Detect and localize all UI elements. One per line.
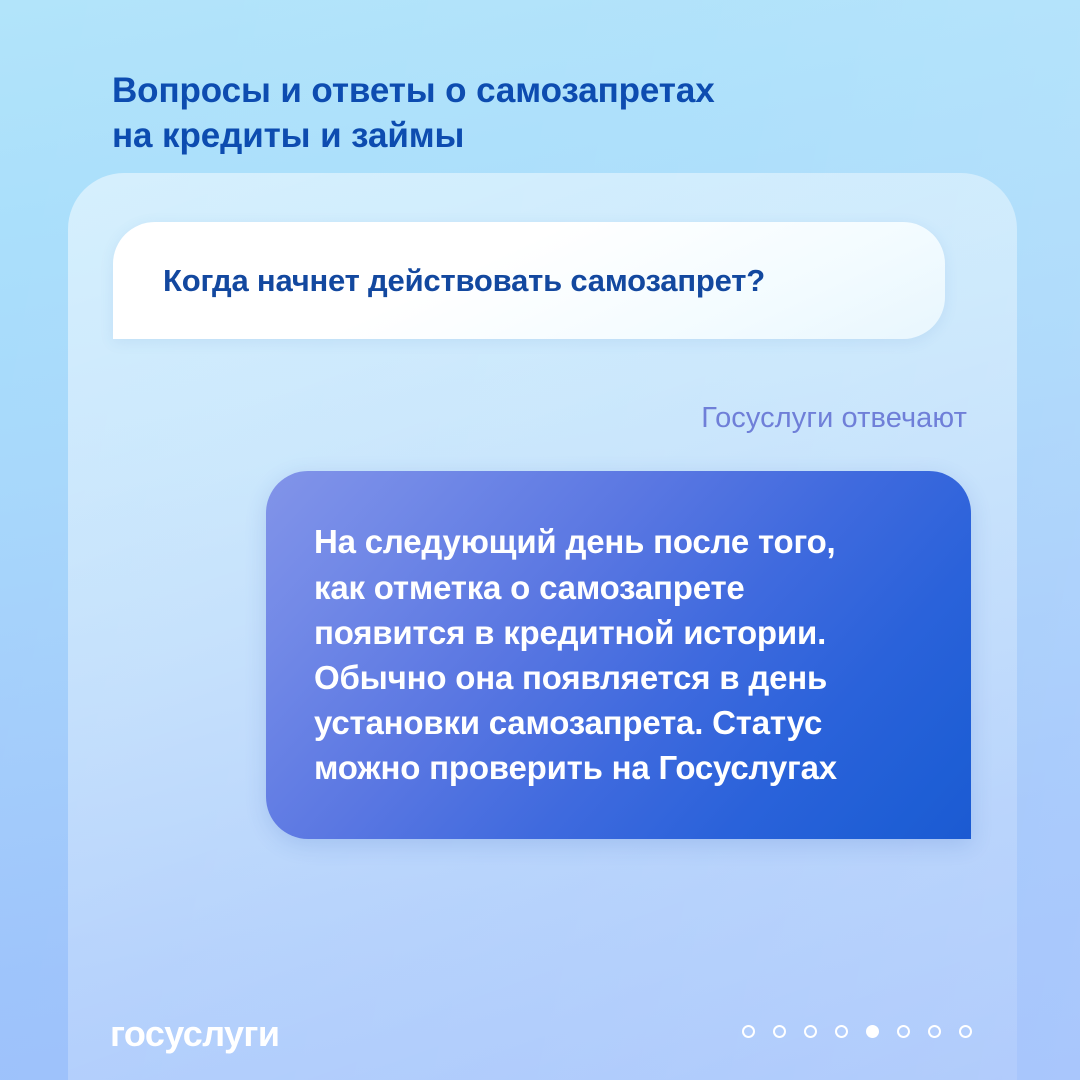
pagination-dot[interactable]	[742, 1025, 755, 1038]
pagination-dot-active[interactable]	[866, 1025, 879, 1038]
pagination-dot[interactable]	[928, 1025, 941, 1038]
pagination-dot[interactable]	[959, 1025, 972, 1038]
question-bubble: Когда начнет действовать самозапрет?	[113, 222, 945, 339]
pagination-dot[interactable]	[897, 1025, 910, 1038]
page-title: Вопросы и ответы о самозапретах на креди…	[112, 69, 872, 157]
poster-canvas: Вопросы и ответы о самозапретах на креди…	[0, 0, 1080, 1080]
answer-bubble: На следующий день после того, как отметк…	[266, 471, 971, 839]
pagination-dot[interactable]	[804, 1025, 817, 1038]
question-text: Когда начнет действовать самозапрет?	[113, 262, 801, 299]
gosuslugi-logo: госуслуги	[110, 1016, 279, 1052]
answer-source-label: Госуслуги отвечают	[701, 402, 967, 435]
pagination-dot[interactable]	[773, 1025, 786, 1038]
answer-text: На следующий день после того, как отметк…	[266, 519, 881, 790]
pagination-dots[interactable]	[742, 1025, 972, 1038]
pagination-dot[interactable]	[835, 1025, 848, 1038]
